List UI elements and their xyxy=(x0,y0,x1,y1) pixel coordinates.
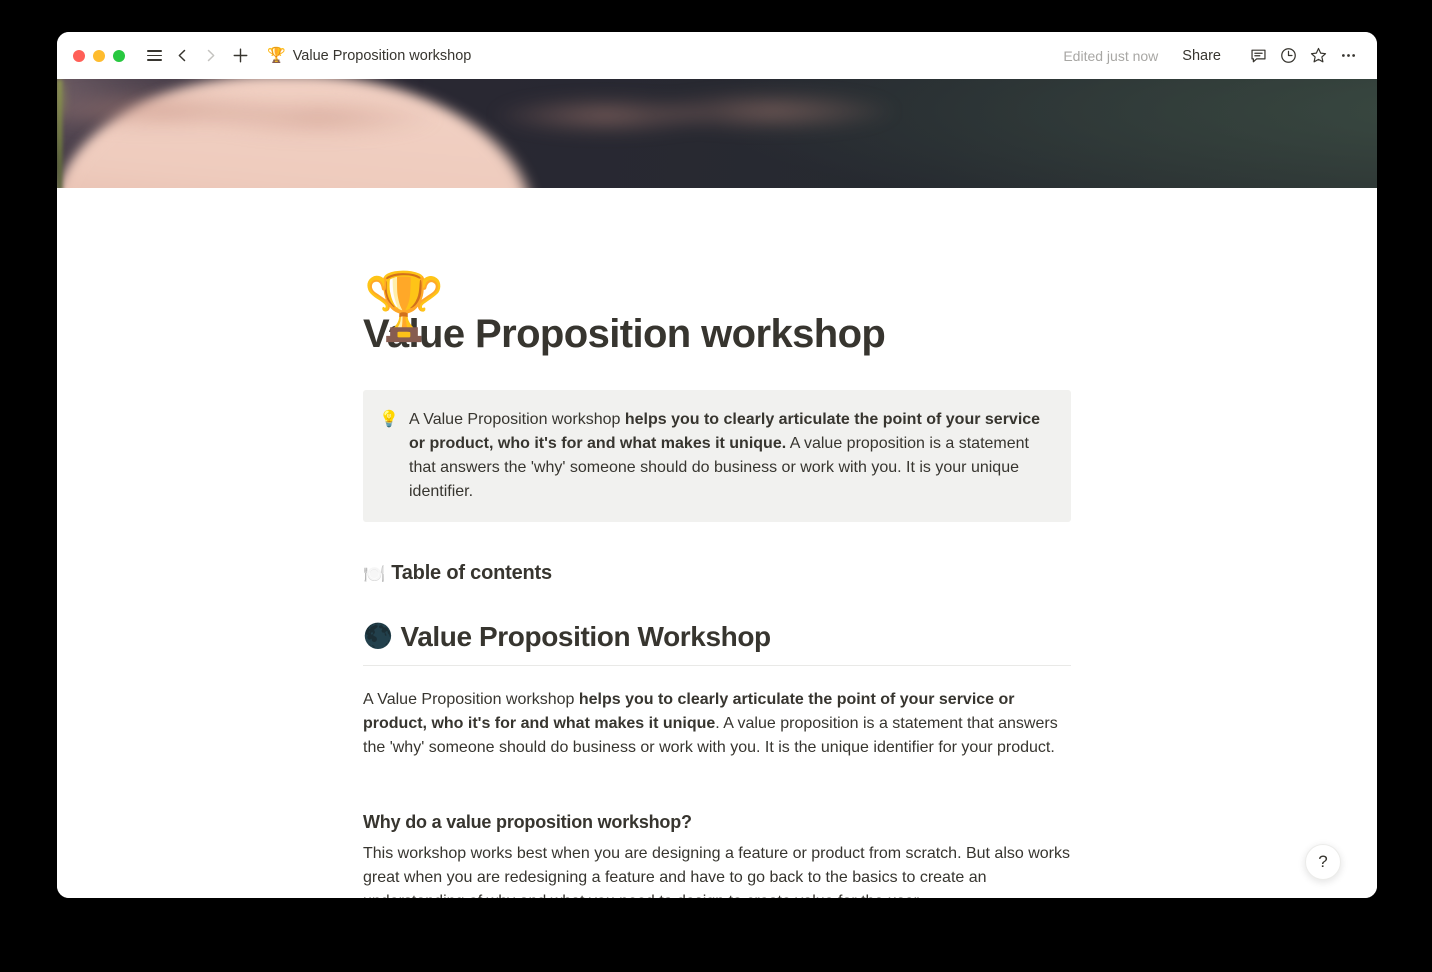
section-divider xyxy=(363,665,1071,666)
cover-vignette xyxy=(57,79,1377,188)
back-icon[interactable] xyxy=(169,43,195,69)
section-paragraph-lead: A Value Proposition workshop xyxy=(363,691,579,708)
minimize-button[interactable] xyxy=(93,50,105,62)
callout-text: A Value Proposition workshop helps you t… xyxy=(409,408,1055,504)
callout-lead: A Value Proposition workshop xyxy=(409,411,625,428)
sidebar-toggle-icon[interactable] xyxy=(141,43,167,69)
table-of-contents-label: Table of contents xyxy=(391,562,552,585)
maximize-button[interactable] xyxy=(113,50,125,62)
traffic-lights xyxy=(73,50,125,62)
table-of-contents-heading[interactable]: 🍽️ Table of contents xyxy=(363,562,1071,585)
page-icon-trophy-icon[interactable]: 🏆 xyxy=(363,273,445,339)
breadcrumb-document-title[interactable]: 🏆 Value Proposition workshop xyxy=(261,45,477,67)
lightbulb-icon: 💡 xyxy=(379,408,399,504)
close-button[interactable] xyxy=(73,50,85,62)
subsection-paragraph[interactable]: This workshop works best when you are de… xyxy=(363,842,1071,898)
section-paragraph[interactable]: A Value Proposition workshop helps you t… xyxy=(363,688,1071,760)
callout-block[interactable]: 💡 A Value Proposition workshop helps you… xyxy=(363,390,1071,522)
more-options-icon[interactable] xyxy=(1333,42,1363,70)
trophy-icon: 🏆 xyxy=(267,48,286,63)
subsection-heading[interactable]: Why do a value proposition workshop? xyxy=(363,812,1071,833)
star-icon[interactable] xyxy=(1303,42,1333,70)
comment-icon[interactable] xyxy=(1243,42,1273,70)
moon-icon: 🌑 xyxy=(363,625,392,649)
help-button[interactable]: ? xyxy=(1305,844,1341,880)
plate-cutlery-icon: 🍽️ xyxy=(363,565,385,583)
app-window: 🏆 Value Proposition workshop Edited just… xyxy=(57,32,1377,898)
cover-image[interactable] xyxy=(57,79,1377,188)
plus-icon[interactable] xyxy=(227,43,253,69)
forward-icon[interactable] xyxy=(197,43,223,69)
history-icon[interactable] xyxy=(1273,42,1303,70)
section-heading[interactable]: 🌑 Value Proposition Workshop xyxy=(363,621,1071,661)
hamburger-glyph xyxy=(147,50,162,61)
share-button[interactable]: Share xyxy=(1176,45,1227,67)
breadcrumb-label: Value Proposition workshop xyxy=(293,48,472,64)
edited-status: Edited just now xyxy=(1063,48,1158,64)
page-scroll-area[interactable]: 🏆 Value Proposition workshop 💡 A Value P… xyxy=(57,188,1377,898)
page-title[interactable]: Value Proposition workshop xyxy=(363,310,1071,358)
page-content: 🏆 Value Proposition workshop 💡 A Value P… xyxy=(363,310,1071,898)
titlebar: 🏆 Value Proposition workshop Edited just… xyxy=(57,32,1377,79)
section-heading-label: Value Proposition Workshop xyxy=(400,621,770,653)
